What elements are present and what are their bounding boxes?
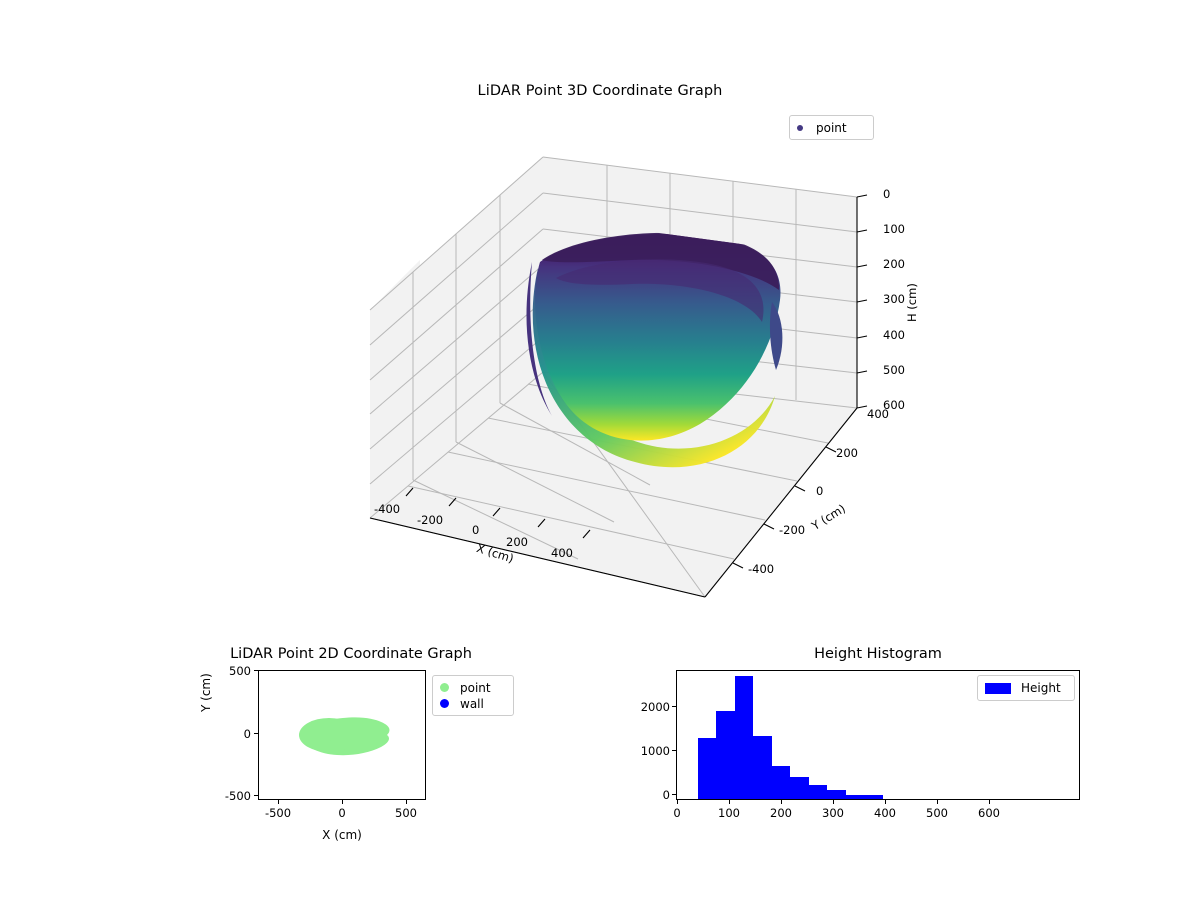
- histogram-xtick: 500: [915, 806, 959, 820]
- histogram-title: Height Histogram: [676, 646, 1080, 662]
- plot3d-canvas: [360, 150, 920, 630]
- plot3d-xtick: -400: [374, 502, 400, 516]
- histogram-bar: [790, 777, 809, 799]
- plot3d-xtick: -200: [417, 513, 443, 527]
- histogram-xtickmark: [781, 800, 782, 804]
- histogram-legend[interactable]: Height: [977, 675, 1075, 701]
- figure-canvas: LiDAR Point 3D Coordinate Graph point: [0, 0, 1200, 900]
- plot3d-ztick: 0: [883, 187, 890, 201]
- wall-marker-icon: [440, 699, 449, 708]
- histogram-xtick: 200: [759, 806, 803, 820]
- plot2d-title: LiDAR Point 2D Coordinate Graph: [155, 646, 547, 662]
- plot3d-ztick: 500: [883, 363, 905, 377]
- histogram-xtickmark: [729, 800, 730, 804]
- legend-item-wall: wall: [440, 698, 506, 710]
- histogram-xtick: 100: [707, 806, 751, 820]
- legend-label: Height: [1021, 682, 1061, 694]
- height-bar-icon: [985, 683, 1011, 694]
- histogram-xtick: 400: [863, 806, 907, 820]
- histogram-ytickmark: [672, 706, 676, 707]
- plot2d-axes[interactable]: [258, 670, 426, 800]
- plot2d-legend[interactable]: point wall: [432, 675, 514, 716]
- plot3d-xtick: 0: [472, 523, 479, 537]
- plot3d-ytick: 0: [816, 484, 823, 498]
- plot2d-xtick: 500: [383, 806, 429, 820]
- histogram-ytickmark: [672, 794, 676, 795]
- plot3d-title: LiDAR Point 3D Coordinate Graph: [0, 83, 1200, 99]
- plot2d-ytickmark: [254, 670, 258, 671]
- histogram-ytick: 0: [626, 788, 670, 802]
- legend-item-point: point: [797, 122, 866, 134]
- histogram-bar: [809, 785, 828, 799]
- histogram-xtick: 600: [967, 806, 1011, 820]
- histogram-xtickmark: [885, 800, 886, 804]
- plot2d-xtickmark: [278, 800, 279, 804]
- histogram-ytick: 2000: [626, 700, 670, 714]
- histogram-bar: [827, 790, 846, 799]
- plot2d-xtick: 0: [319, 806, 365, 820]
- plot3d-ytick: 200: [836, 446, 858, 460]
- plot3d-ytick: -400: [748, 562, 774, 576]
- plot3d-zaxis-label: H (cm): [905, 283, 919, 322]
- histogram-xtick: 300: [811, 806, 855, 820]
- histogram-bar: [698, 738, 717, 799]
- plot3d-ytick: 400: [867, 407, 889, 421]
- plot2d-xaxis-label: X (cm): [258, 828, 426, 842]
- plot3d-ztick: 100: [883, 222, 905, 236]
- legend-label: point: [460, 682, 491, 694]
- histogram-xtickmark: [677, 800, 678, 804]
- histogram-ytickmark: [672, 750, 676, 751]
- plot3d-ztick: 400: [883, 328, 905, 342]
- plot2d-ytick: -500: [205, 789, 251, 803]
- histogram-bar: [846, 795, 865, 799]
- plot3d-ytick: -200: [779, 523, 805, 537]
- plot3d-ztick: 300: [883, 292, 905, 306]
- plot2d-ytick: 0: [205, 727, 251, 741]
- histogram-xtick: 0: [655, 806, 699, 820]
- point-marker-icon: [797, 125, 803, 131]
- plot2d-xtickmark: [406, 800, 407, 804]
- histogram-bar: [753, 736, 772, 799]
- plot2d-ytickmark: [254, 733, 258, 734]
- plot2d-xtick: -500: [255, 806, 301, 820]
- plot3d-xtick: 200: [506, 535, 528, 549]
- plot3d-legend[interactable]: point: [789, 115, 874, 140]
- histogram-xtickmark: [937, 800, 938, 804]
- point-marker-icon: [440, 683, 449, 692]
- histogram-bar: [735, 676, 754, 799]
- plot2d-canvas: [259, 671, 426, 800]
- plot2d-ytickmark: [254, 795, 258, 796]
- histogram-bar: [716, 711, 735, 799]
- histogram-bar: [865, 795, 884, 799]
- legend-label: point: [816, 122, 847, 134]
- histogram-ytick: 1000: [626, 744, 670, 758]
- plot2d-yaxis-label: Y (cm): [199, 673, 213, 712]
- legend-label: wall: [460, 698, 484, 710]
- legend-item-height: Height: [985, 682, 1067, 694]
- histogram-xtickmark: [833, 800, 834, 804]
- histogram-xtickmark: [989, 800, 990, 804]
- histogram-bar: [772, 766, 791, 799]
- legend-item-point: point: [440, 682, 506, 694]
- plot2d-xtickmark: [342, 800, 343, 804]
- plot3d-axes[interactable]: 0 100 200 300 400 500 600 H (cm) -400 -2…: [360, 150, 920, 630]
- plot3d-ztick: 200: [883, 257, 905, 271]
- plot3d-xtick: 400: [551, 546, 573, 560]
